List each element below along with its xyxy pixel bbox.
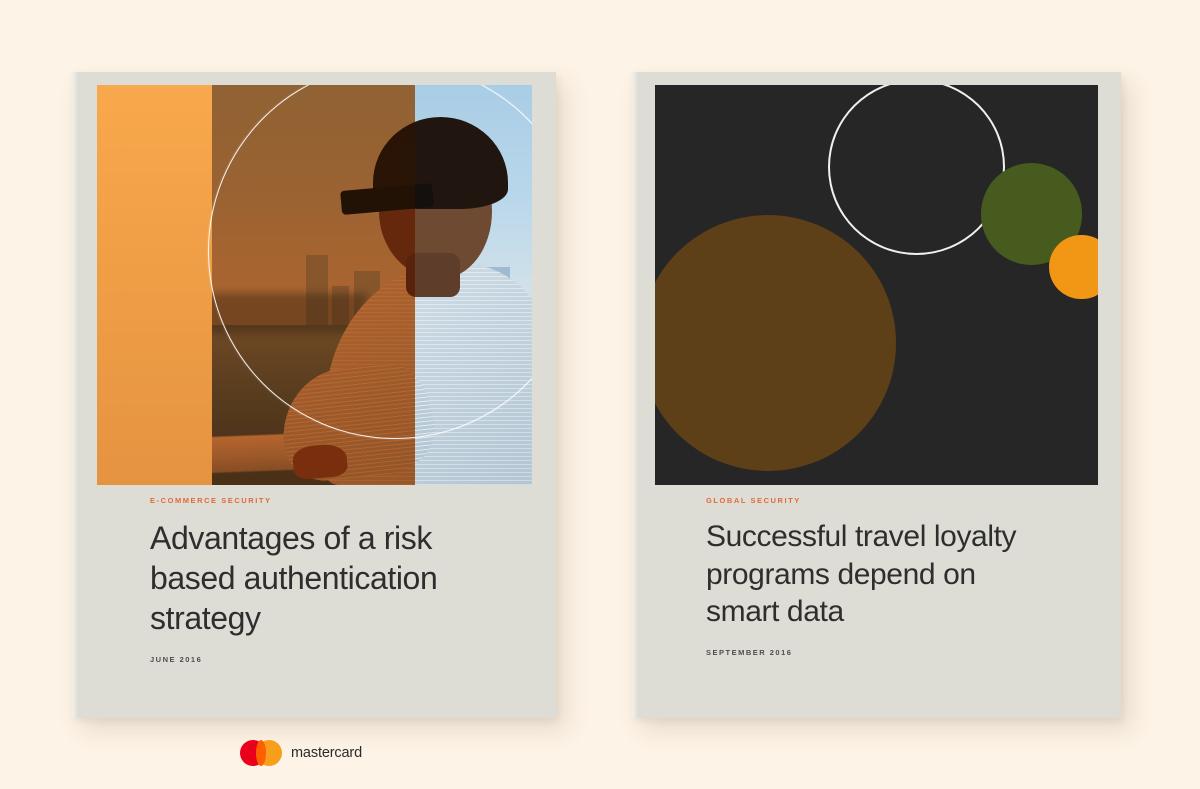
cover-date: JUNE 2016 xyxy=(150,655,516,664)
mastercard-wordmark: mastercard xyxy=(291,745,362,761)
cover-text-block-left: E-COMMERCE SECURITY Advantages of a risk… xyxy=(150,496,516,664)
cover-date: SEPTEMBER 2016 xyxy=(706,648,1081,657)
mastercard-logo-left: mastercard xyxy=(240,740,362,766)
report-cover-left[interactable]: E-COMMERCE SECURITY Advantages of a risk… xyxy=(72,72,556,718)
cover-headline: Advantages of a risk based authenticatio… xyxy=(150,518,516,638)
cover-spine xyxy=(72,72,79,718)
white-outline-circle xyxy=(828,85,1005,255)
cover-eyebrow: E-COMMERCE SECURITY xyxy=(150,496,516,505)
logo-overlap xyxy=(256,740,266,766)
cover-text-block-right: GLOBAL SECURITY Successful travel loyalt… xyxy=(706,496,1081,657)
cover-headline: Successful travel loyalty programs depen… xyxy=(706,518,1036,631)
cover-artwork-photo xyxy=(97,85,532,485)
cover-spine xyxy=(632,72,639,718)
cover-eyebrow: GLOBAL SECURITY xyxy=(706,496,1081,505)
mastercard-circles-icon xyxy=(240,740,282,766)
cover-artwork-geometric xyxy=(655,85,1098,485)
report-cover-right[interactable]: GLOBAL SECURITY Successful travel loyalt… xyxy=(632,72,1121,718)
showcase-stage: E-COMMERCE SECURITY Advantages of a risk… xyxy=(0,0,1200,789)
